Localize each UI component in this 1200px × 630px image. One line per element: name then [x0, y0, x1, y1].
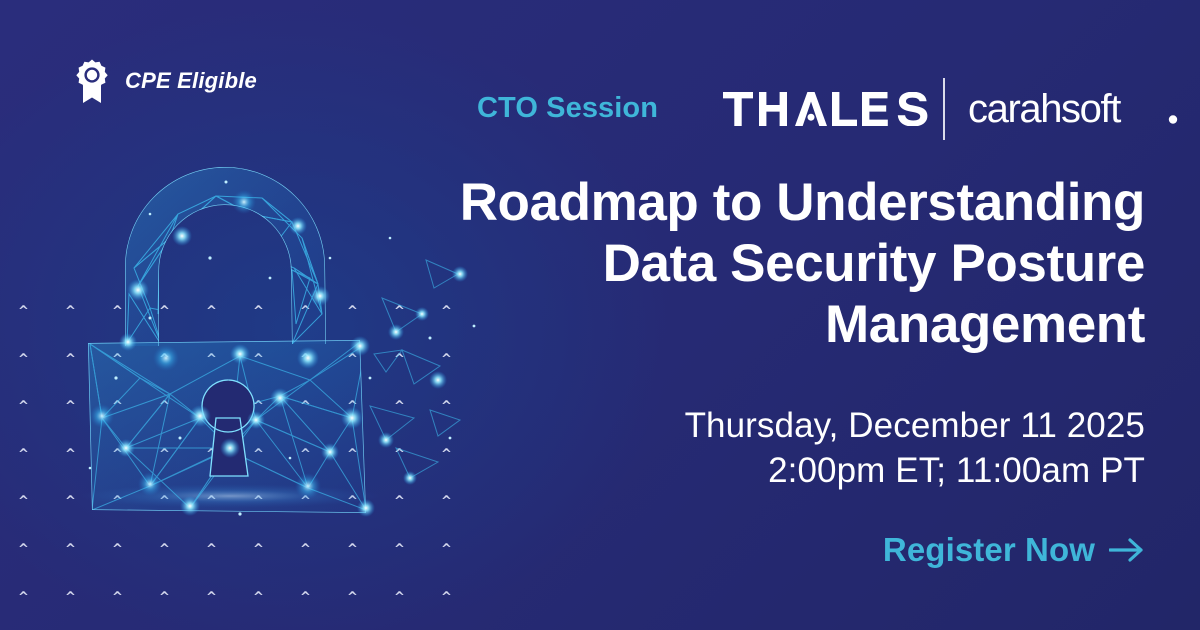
page-title: Roadmap to Understanding Data Security P… — [445, 172, 1145, 356]
caret-glyph: ^ — [141, 574, 188, 622]
caret-glyph: ^ — [141, 526, 188, 574]
caret-glyph: ^ — [188, 526, 235, 574]
caret-glyph: ^ — [423, 574, 470, 622]
caret-glyph: ^ — [329, 526, 376, 574]
caret-glyph: ^ — [235, 621, 282, 630]
cto-session-label: CTO Session — [477, 92, 658, 125]
caret-glyph: ^ — [0, 621, 47, 630]
carahsoft-logo: carahsoft ® — [968, 84, 1186, 132]
caret-glyph: ^ — [47, 621, 94, 630]
caret-glyph: ^ — [376, 621, 423, 630]
event-datetime: Thursday, December 11 2025 2:00pm ET; 11… — [445, 403, 1145, 493]
caret-glyph: ^ — [0, 574, 47, 622]
caret-glyph: ^ — [47, 574, 94, 622]
promo-copy: Roadmap to Understanding Data Security P… — [445, 172, 1145, 569]
cpe-eligible-badge: CPE Eligible — [70, 58, 257, 104]
caret-glyph: ^ — [282, 574, 329, 622]
caret-glyph: ^ — [423, 621, 470, 630]
caret-glyph: ^ — [141, 621, 188, 630]
caret-glyph: ^ — [94, 621, 141, 630]
caret-glyph: ^ — [376, 574, 423, 622]
caret-pattern-row: ^^^^^^^^^^ — [0, 526, 470, 574]
caret-glyph: ^ — [235, 574, 282, 622]
event-date: Thursday, December 11 2025 — [445, 403, 1145, 448]
event-time: 2:00pm ET; 11:00am PT — [445, 448, 1145, 493]
svg-text:®: ® — [1171, 117, 1176, 124]
caret-pattern-row: ^^^^^^^^^^ — [0, 621, 470, 630]
caret-glyph: ^ — [188, 574, 235, 622]
svg-text:carahsoft: carahsoft — [968, 87, 1121, 131]
promo-banner: ^^^^^^^^^^^^^^^^^^^^^^^^^^^^^^^^^^^^^^^^… — [0, 0, 1200, 630]
wireframe-padlock-illustration — [30, 118, 500, 518]
register-now-label: Register Now — [883, 531, 1095, 569]
caret-glyph: ^ — [282, 526, 329, 574]
caret-glyph: ^ — [94, 574, 141, 622]
arrow-right-icon — [1109, 537, 1145, 563]
caret-glyph: ^ — [329, 621, 376, 630]
thales-logo — [723, 88, 929, 130]
logo-divider — [943, 78, 945, 140]
caret-glyph: ^ — [0, 526, 47, 574]
cpe-eligible-label: CPE Eligible — [125, 68, 257, 94]
register-now-button[interactable]: Register Now — [883, 531, 1145, 569]
caret-glyph: ^ — [235, 526, 282, 574]
caret-glyph: ^ — [376, 526, 423, 574]
caret-glyph: ^ — [47, 526, 94, 574]
caret-glyph: ^ — [329, 574, 376, 622]
caret-glyph: ^ — [282, 621, 329, 630]
caret-glyph: ^ — [94, 526, 141, 574]
caret-glyph: ^ — [188, 621, 235, 630]
award-rosette-icon — [70, 58, 114, 104]
caret-pattern-row: ^^^^^^^^^^ — [0, 574, 470, 622]
